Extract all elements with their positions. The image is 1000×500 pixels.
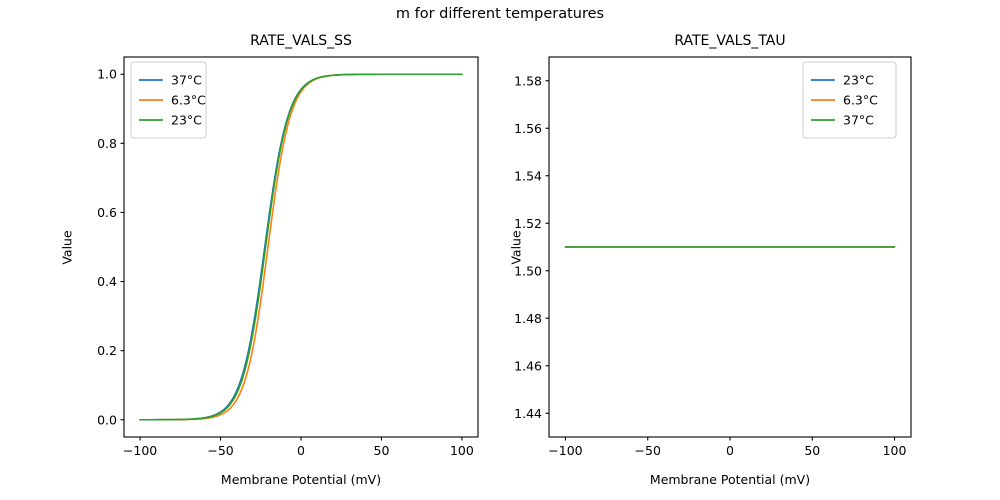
right-y-tick-label-0: 1.44 — [514, 406, 542, 421]
left-legend-label-0: 37°C — [171, 73, 202, 88]
plot-canvas: −100−500501000.00.20.40.60.81.037°C6.3°C… — [0, 0, 1000, 500]
right-y-tick-label-4: 1.52 — [514, 216, 542, 231]
left-x-tick-label-4: 100 — [450, 443, 474, 458]
left-y-tick-label-5: 1.0 — [97, 67, 117, 82]
right-y-tick-label-7: 1.58 — [514, 73, 542, 88]
matplotlib-figure: m for different temperatures RATE_VALS_S… — [0, 0, 1000, 500]
right-x-tick-label-2: 0 — [726, 443, 734, 458]
left-legend-label-2: 23°C — [171, 113, 202, 128]
left-x-tick-label-1: −50 — [207, 443, 233, 458]
right-x-tick-label-0: −100 — [548, 443, 582, 458]
right-y-tick-label-3: 1.50 — [514, 263, 542, 278]
right-y-tick-label-2: 1.48 — [514, 311, 542, 326]
left-y-tick-label-1: 0.2 — [97, 343, 117, 358]
right-y-tick-label-1: 1.46 — [514, 358, 542, 373]
right-legend-label-0: 23°C — [843, 73, 874, 88]
right-y-tick-label-6: 1.56 — [514, 121, 542, 136]
left-x-tick-label-2: 0 — [297, 443, 305, 458]
right-y-tick-label-5: 1.54 — [514, 168, 542, 183]
left-y-tick-label-2: 0.4 — [97, 274, 117, 289]
left-y-tick-label-3: 0.6 — [97, 205, 117, 220]
left-x-tick-label-0: −100 — [123, 443, 157, 458]
right-x-tick-label-3: 50 — [804, 443, 820, 458]
right-legend-label-1: 6.3°C — [843, 93, 878, 108]
left-y-tick-label-4: 0.8 — [97, 136, 117, 151]
left-legend-label-1: 6.3°C — [171, 93, 206, 108]
left-y-tick-label-0: 0.0 — [97, 412, 117, 427]
left-x-tick-label-3: 50 — [374, 443, 390, 458]
right-x-tick-label-4: 100 — [883, 443, 907, 458]
right-x-tick-label-1: −50 — [635, 443, 661, 458]
right-legend-label-2: 37°C — [843, 113, 874, 128]
